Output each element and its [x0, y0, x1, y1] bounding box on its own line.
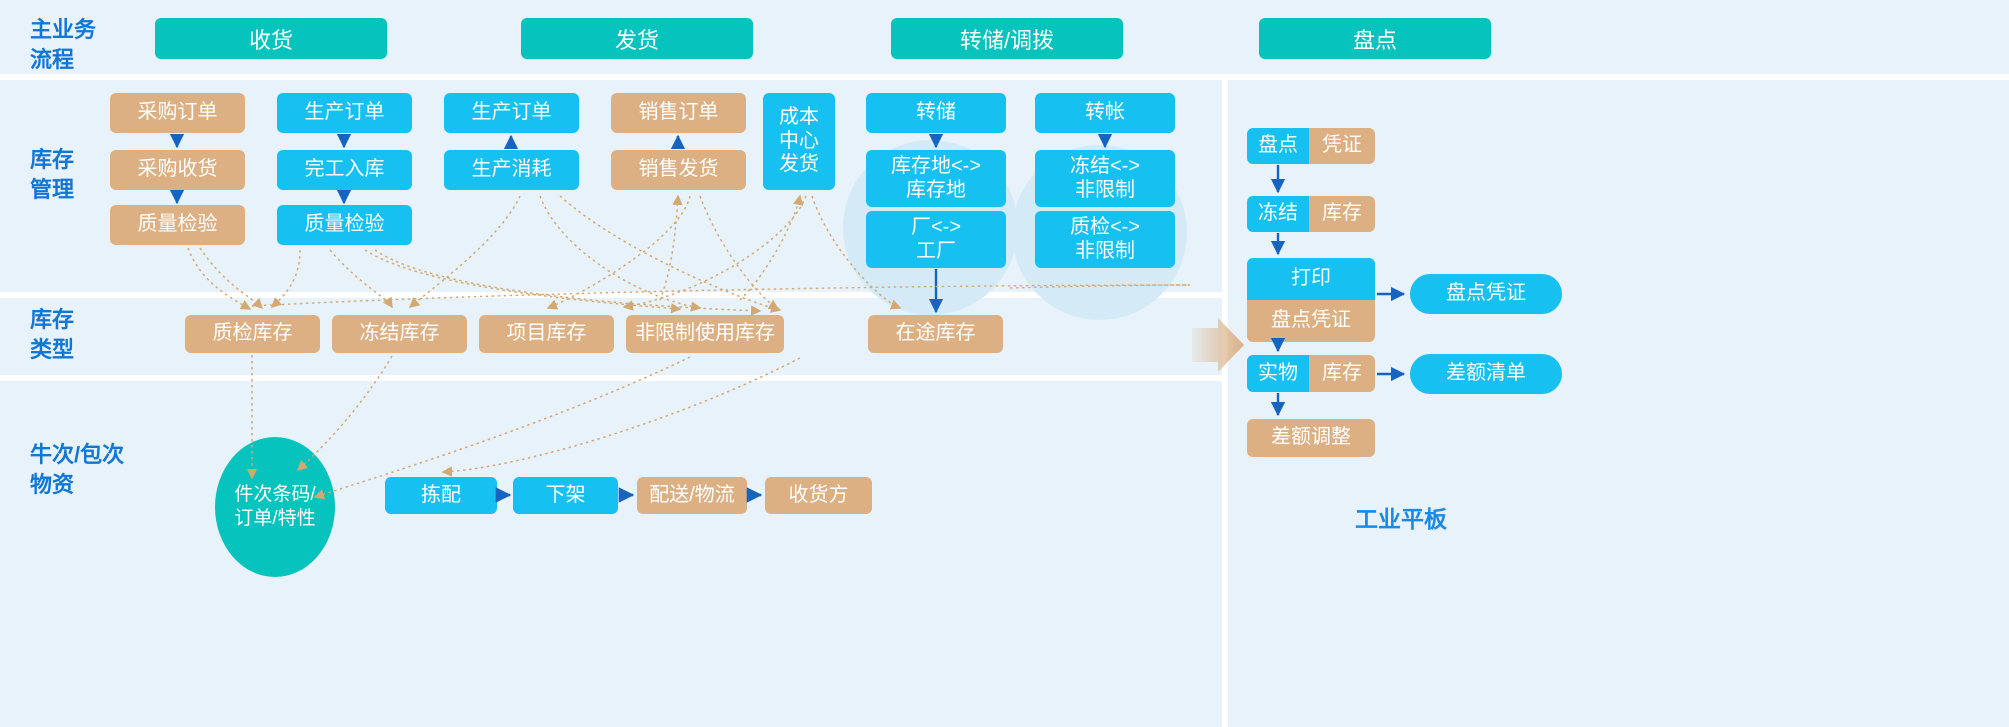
node-production-order-2[interactable]: 生产订单	[444, 93, 579, 133]
node-unrestricted-stock[interactable]: 非限制使用库存	[626, 315, 784, 353]
row-label-line2: 流程	[30, 45, 96, 75]
node-barcode-ellipse[interactable]: 件次条码/ 订单/特性	[215, 437, 335, 577]
row-label-line1: 库存	[30, 305, 74, 335]
node-picking[interactable]: 拣配	[385, 477, 497, 514]
node-physical-left[interactable]: 实物	[1247, 355, 1309, 392]
node-count-right[interactable]: 凭证	[1309, 128, 1375, 164]
process-button-stocktaking[interactable]: 盘点	[1259, 18, 1491, 59]
node-variance-list[interactable]: 差额清单	[1410, 354, 1562, 394]
node-print[interactable]: 打印	[1247, 258, 1375, 300]
node-sales-delivery[interactable]: 销售发货	[611, 150, 746, 190]
node-production-consumption[interactable]: 生产消耗	[444, 150, 579, 190]
band-batch-material	[0, 381, 1222, 727]
node-finished-goods-receipt[interactable]: 完工入库	[277, 150, 412, 190]
node-delivery-logistics[interactable]: 配送/物流	[637, 477, 747, 514]
row-label-batch-material: 牛次/包次 物资	[30, 440, 124, 500]
stocktaking-panel-caption: 工业平板	[1355, 500, 1447, 534]
node-storage-loc-to-storage-loc[interactable]: 库存地<-> 库存地	[866, 150, 1006, 207]
node-quality-inspection-1[interactable]: 质量检验	[110, 205, 245, 245]
node-qi-stock[interactable]: 质检库存	[185, 315, 320, 353]
process-button-transfer[interactable]: 转储/调拨	[891, 18, 1123, 59]
process-button-receiving[interactable]: 收货	[155, 18, 387, 59]
node-in-transit-stock[interactable]: 在途库存	[868, 315, 1003, 353]
band-stocktaking-panel	[1228, 80, 2009, 727]
node-production-order-1[interactable]: 生产订单	[277, 93, 412, 133]
node-freeze-right[interactable]: 库存	[1309, 196, 1375, 232]
node-label: 库存地<-> 库存地	[891, 155, 981, 202]
node-count-voucher-box[interactable]: 盘点凭证	[1247, 300, 1375, 342]
node-purchase-receipt[interactable]: 采购收货	[110, 150, 245, 190]
node-count-left[interactable]: 盘点	[1247, 128, 1309, 164]
row-label-line2: 物资	[30, 470, 124, 500]
node-quality-inspection-2[interactable]: 质量检验	[277, 205, 412, 245]
node-cost-center-delivery[interactable]: 成本 中心 发货	[763, 93, 835, 190]
row-label-main-process: 主业务 流程	[30, 15, 96, 75]
node-label: 厂<-> 工厂	[911, 216, 961, 263]
node-variance-adjust[interactable]: 差额调整	[1247, 419, 1375, 457]
node-label: 成本 中心 发货	[779, 106, 819, 177]
node-putdown[interactable]: 下架	[513, 477, 618, 514]
row-label-line2: 管理	[30, 175, 74, 205]
node-sales-order[interactable]: 销售订单	[611, 93, 746, 133]
row-label-line1: 库存	[30, 145, 74, 175]
row-label-inventory-type: 库存 类型	[30, 305, 74, 365]
row-label-line1: 主业务	[30, 15, 96, 45]
node-transfer-posting[interactable]: 转帐	[1035, 93, 1175, 133]
node-consignee[interactable]: 收货方	[765, 477, 872, 514]
process-button-shipping[interactable]: 发货	[521, 18, 753, 59]
node-label: 件次条码/ 订单/特性	[234, 483, 315, 531]
node-count-voucher-out[interactable]: 盘点凭证	[1410, 274, 1562, 314]
node-purchase-order[interactable]: 采购订单	[110, 93, 245, 133]
node-project-stock[interactable]: 项目库存	[479, 315, 614, 353]
row-label-inventory-mgmt: 库存 管理	[30, 145, 74, 205]
node-qi-to-unrestricted[interactable]: 质检<-> 非限制	[1035, 211, 1175, 268]
node-plant-to-plant[interactable]: 厂<-> 工厂	[866, 211, 1006, 268]
node-label: 冻结<-> 非限制	[1070, 155, 1140, 202]
row-label-line2: 类型	[30, 335, 74, 365]
node-blocked-stock[interactable]: 冻结库存	[332, 315, 467, 353]
node-physical-right[interactable]: 库存	[1309, 355, 1375, 392]
node-blocked-to-unrestricted[interactable]: 冻结<-> 非限制	[1035, 150, 1175, 207]
row-label-line1: 牛次/包次	[30, 440, 124, 470]
node-label: 质检<-> 非限制	[1070, 216, 1140, 263]
node-stock-transfer[interactable]: 转储	[866, 93, 1006, 133]
diagram-canvas: 主业务 流程 库存 管理 库存 类型 牛次/包次 物资 收货 发货 转储/调拨 …	[0, 0, 2009, 727]
node-freeze-left[interactable]: 冻结	[1247, 196, 1309, 232]
